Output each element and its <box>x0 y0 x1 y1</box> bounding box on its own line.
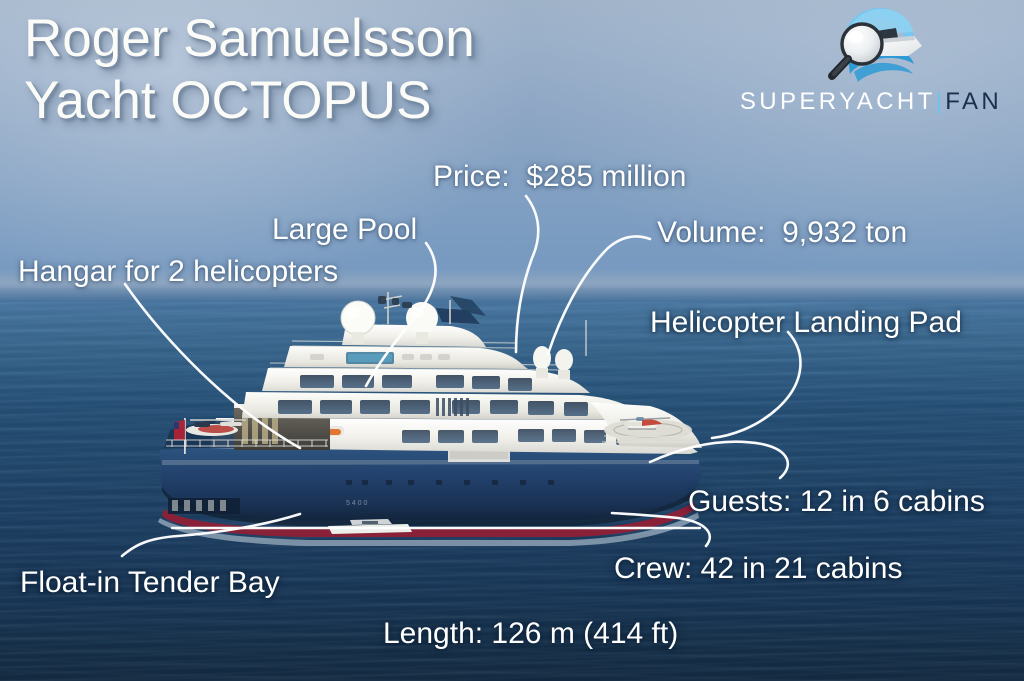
svg-text:5 4 0 0: 5 4 0 0 <box>346 500 368 507</box>
callout-helicopter-landing-pad: Helicopter Landing Pad <box>650 306 962 340</box>
callout-large-pool: Large Pool <box>272 213 417 247</box>
callout-float-in-tender-bay: Float-in Tender Bay <box>20 566 280 600</box>
logo-text-fan: FAN <box>945 88 1002 115</box>
float-in-tender-bay <box>168 498 240 514</box>
callout-crew: Crew: 42 in 21 cabins <box>614 552 903 586</box>
callout-guests: Guests: 12 in 6 cabins <box>688 485 985 519</box>
callout-length: Length: 126 m (414 ft) <box>383 617 678 651</box>
logo-text-superyacht: SUPERYACHT <box>740 88 936 115</box>
logo-wordmark: SUPERYACHT|FAN <box>726 88 1016 116</box>
infographic-canvas: OCTOPUS <box>0 0 1024 681</box>
callout-hangar: Hangar for 2 helicopters <box>18 255 338 289</box>
ensign-flag <box>174 418 186 454</box>
logo-wave-2 <box>854 63 913 82</box>
magnifying-glass-yacht-icon <box>818 6 930 88</box>
callout-volume: Volume: 9,932 ton <box>657 216 907 250</box>
superyachtfan-logo[interactable]: SUPERYACHT|FAN <box>726 6 1016 124</box>
hull <box>160 447 702 520</box>
callout-price: Price: $285 million <box>433 160 686 194</box>
page-title: Roger Samuelsson Yacht OCTOPUS <box>24 8 684 132</box>
logo-text-divider: | <box>936 88 946 115</box>
yacht-octopus: OCTOPUS <box>150 290 710 552</box>
